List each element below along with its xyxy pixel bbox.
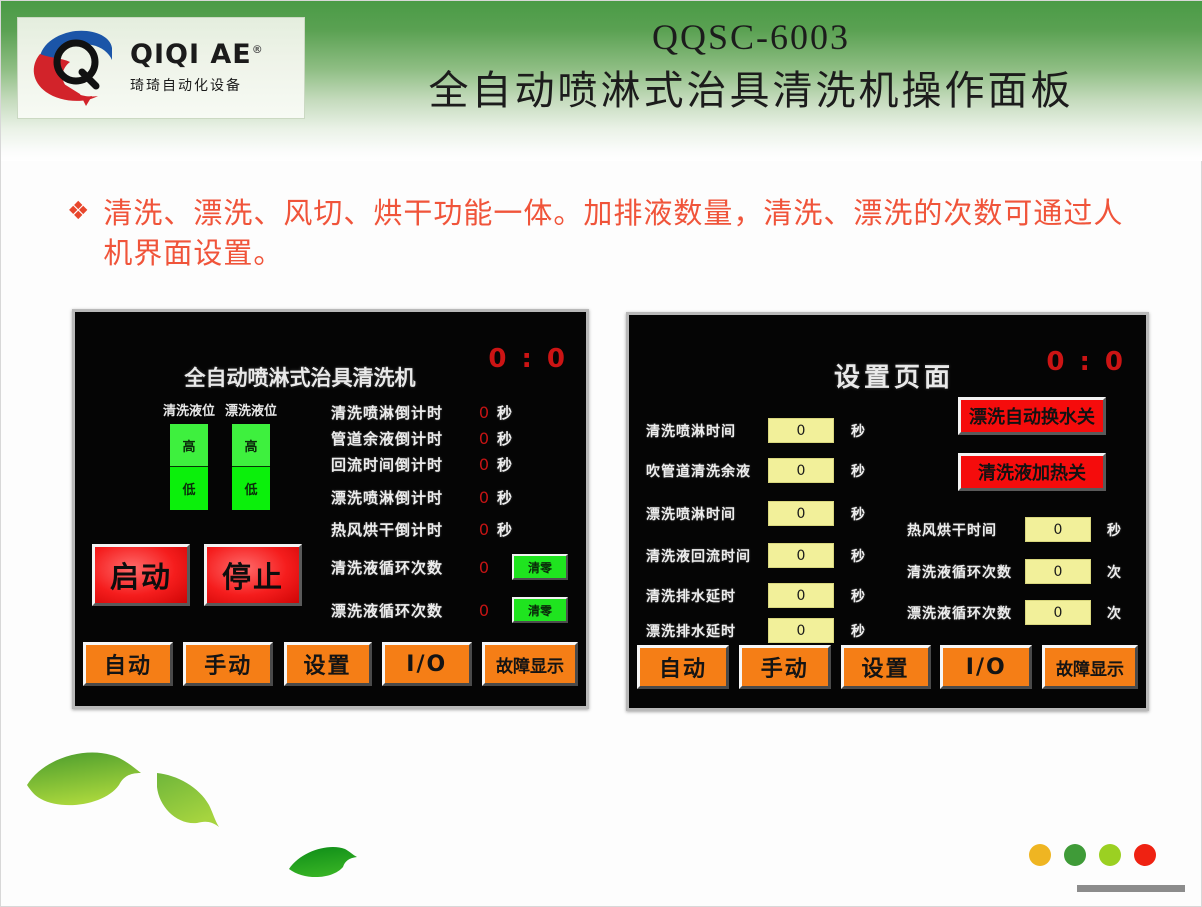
dot-green-light (1099, 844, 1121, 866)
level-low-rinse: 低 (232, 467, 270, 510)
countdown-unit: 秒 (497, 519, 512, 540)
setting-row: 热风烘干时间 0 秒 (907, 517, 1121, 542)
setting-unit: 秒 (851, 461, 865, 481)
start-button[interactable]: 启动 (92, 544, 190, 606)
setting-label: 漂洗排水延时 (646, 621, 768, 641)
setting-value-field[interactable]: 0 (1025, 517, 1091, 542)
leaf-decoration-icon (23, 743, 149, 818)
setting-unit: 秒 (851, 621, 865, 641)
setting-value-field[interactable]: 0 (768, 583, 834, 608)
setting-row: 清洗液循环次数 0 次 (907, 559, 1121, 584)
countdown-label: 管道余液倒计时 (331, 428, 471, 449)
level-label-wash: 清洗液位 (156, 400, 222, 419)
hmi-left-title: 全自动喷淋式治具清洗机 (135, 362, 465, 392)
stop-button[interactable]: 停止 (204, 544, 302, 606)
nav-button-fault-display[interactable]: 故障显示 (482, 642, 578, 686)
hmi-screen-settings[interactable]: 设置页面 0 : 0 清洗喷淋时间 0 秒 吹管道清洗余液 0 秒 漂洗喷淋时间… (626, 312, 1149, 711)
cycle-count-label: 漂洗液循环次数 (331, 600, 471, 621)
setting-row: 清洗液回流时间 0 秒 (646, 543, 865, 568)
registered-icon: ® (252, 43, 264, 56)
logo-brand-en-text: QIQI AE (130, 39, 252, 70)
hmi-right-navbar: 自动 手动 设置 I/O 故障显示 (629, 645, 1146, 689)
countdown-label: 漂洗喷淋倒计时 (331, 487, 471, 508)
countdown-unit: 秒 (497, 402, 512, 423)
nav-button-fault-display[interactable]: 故障显示 (1042, 645, 1138, 689)
countdown-label: 回流时间倒计时 (331, 454, 471, 475)
leaf-decoration-icon (153, 769, 225, 836)
logo-brand-cn: 琦琦自动化设备 (130, 75, 304, 95)
countdown-value: 0 (471, 520, 497, 539)
setting-unit: 秒 (851, 586, 865, 606)
setting-label: 清洗液循环次数 (907, 562, 1025, 582)
countdown-row: 管道余液倒计时 0 秒 (331, 428, 512, 449)
setting-row: 漂洗排水延时 0 秒 (646, 618, 865, 643)
setting-value-field[interactable]: 0 (768, 501, 834, 526)
setting-unit: 次 (1107, 603, 1121, 623)
slide-header: QIQI AE® 琦琦自动化设备 QQSC-6003 全自动喷淋式治具清洗机操作… (1, 1, 1202, 161)
setting-label: 清洗喷淋时间 (646, 421, 768, 441)
cycle-count-row: 清洗液循环次数 0 (331, 557, 497, 578)
nav-button-manual[interactable]: 手动 (739, 645, 831, 689)
bullet-marker-icon: ❖ (67, 199, 89, 224)
hmi-left-clock: 0 : 0 (488, 344, 568, 374)
setting-unit: 秒 (1107, 520, 1121, 540)
level-high-rinse: 高 (232, 424, 270, 467)
hmi-left-navbar: 自动 手动 设置 I/O 故障显示 (75, 642, 586, 686)
title-block: QQSC-6003 全自动喷淋式治具清洗机操作面板 (311, 15, 1191, 116)
reset-button-wash-cycles[interactable]: 清零 (512, 554, 568, 580)
hmi-right-title: 设置页面 (779, 357, 1009, 394)
countdown-label: 清洗喷淋倒计时 (331, 402, 471, 423)
nav-button-io[interactable]: I/O (940, 645, 1032, 689)
setting-unit: 秒 (851, 421, 865, 441)
setting-row: 漂洗液循环次数 0 次 (907, 600, 1121, 625)
setting-row: 吹管道清洗余液 0 秒 (646, 458, 865, 483)
cycle-count-value: 0 (471, 601, 497, 620)
setting-value-field[interactable]: 0 (1025, 600, 1091, 625)
setting-value-field[interactable]: 0 (768, 418, 834, 443)
countdown-row: 热风烘干倒计时 0 秒 (331, 519, 512, 540)
level-label-rinse: 漂洗液位 (218, 400, 284, 419)
setting-value-field[interactable]: 0 (768, 543, 834, 568)
dot-red (1134, 844, 1156, 866)
decorative-dots (1029, 844, 1156, 866)
setting-unit: 秒 (851, 504, 865, 524)
nav-button-auto[interactable]: 自动 (83, 642, 173, 686)
hmi-right-clock: 0 : 0 (1046, 347, 1126, 377)
setting-value-field[interactable]: 0 (768, 618, 834, 643)
nav-button-io[interactable]: I/O (382, 642, 472, 686)
bullet-text: 清洗、漂洗、风切、烘干功能一体。加排液数量，清洗、漂洗的次数可通过人机界面设置。 (103, 193, 1127, 273)
leaf-decoration-icon (287, 843, 359, 886)
page-title: 全自动喷淋式治具清洗机操作面板 (311, 66, 1191, 116)
cycle-count-label: 清洗液循环次数 (331, 557, 471, 578)
nav-button-auto[interactable]: 自动 (637, 645, 729, 689)
setting-label: 漂洗喷淋时间 (646, 504, 768, 524)
countdown-row: 漂洗喷淋倒计时 0 秒 (331, 487, 512, 508)
level-gauge-rinse: 高 低 (232, 424, 270, 510)
level-high-wash: 高 (170, 424, 208, 467)
toggle-rinse-auto-water-change[interactable]: 漂洗自动换水关 (958, 397, 1106, 435)
footer-bar (1077, 885, 1185, 892)
toggle-wash-liquid-heating[interactable]: 清洗液加热关 (958, 453, 1106, 491)
setting-value-field[interactable]: 0 (768, 458, 834, 483)
countdown-value: 0 (471, 403, 497, 422)
countdown-row: 回流时间倒计时 0 秒 (331, 454, 512, 475)
nav-button-manual[interactable]: 手动 (183, 642, 273, 686)
countdown-unit: 秒 (497, 428, 512, 449)
setting-row: 漂洗喷淋时间 0 秒 (646, 501, 865, 526)
setting-unit: 次 (1107, 562, 1121, 582)
company-logo: QIQI AE® 琦琦自动化设备 (17, 17, 305, 119)
level-low-wash: 低 (170, 467, 208, 510)
setting-label: 热风烘干时间 (907, 520, 1025, 540)
countdown-row: 清洗喷淋倒计时 0 秒 (331, 402, 512, 423)
dot-yellow (1029, 844, 1051, 866)
setting-label: 漂洗液循环次数 (907, 603, 1025, 623)
setting-label: 清洗排水延时 (646, 586, 768, 606)
reset-button-rinse-cycles[interactable]: 清零 (512, 597, 568, 623)
setting-label: 吹管道清洗余液 (646, 461, 768, 481)
setting-row: 清洗喷淋时间 0 秒 (646, 418, 865, 443)
nav-button-settings[interactable]: 设置 (284, 642, 372, 686)
logo-brand-en: QIQI AE® (130, 41, 264, 68)
model-number: QQSC-6003 (311, 15, 1191, 60)
slide-canvas: QIQI AE® 琦琦自动化设备 QQSC-6003 全自动喷淋式治具清洗机操作… (0, 0, 1202, 907)
countdown-unit: 秒 (497, 454, 512, 475)
dot-green-dark (1064, 844, 1086, 866)
countdown-value: 0 (471, 455, 497, 474)
bullet-point: ❖ 清洗、漂洗、风切、烘干功能一体。加排液数量，清洗、漂洗的次数可通过人机界面设… (67, 193, 1127, 273)
hmi-screen-main[interactable]: 全自动喷淋式治具清洗机 0 : 0 清洗液位 高 低 漂洗液位 高 低 清洗喷淋… (72, 309, 589, 709)
countdown-value: 0 (471, 488, 497, 507)
cycle-count-row: 漂洗液循环次数 0 (331, 600, 497, 621)
setting-unit: 秒 (851, 546, 865, 566)
logo-swoosh-icon (24, 24, 128, 112)
nav-button-settings[interactable]: 设置 (841, 645, 931, 689)
level-gauge-wash: 高 低 (170, 424, 208, 510)
countdown-label: 热风烘干倒计时 (331, 519, 471, 540)
setting-label: 清洗液回流时间 (646, 546, 768, 566)
countdown-unit: 秒 (497, 487, 512, 508)
setting-value-field[interactable]: 0 (1025, 559, 1091, 584)
cycle-count-value: 0 (471, 558, 497, 577)
setting-row: 清洗排水延时 0 秒 (646, 583, 865, 608)
countdown-value: 0 (471, 429, 497, 448)
